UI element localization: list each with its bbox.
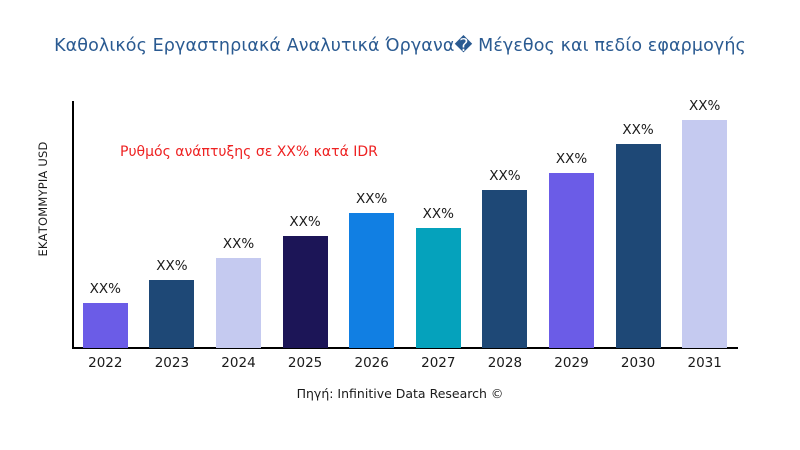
bar-group: XX% (416, 208, 461, 349)
x-tick-label-2025: 2025 (272, 355, 339, 371)
bar-value-label: XX% (689, 100, 720, 114)
bar-2031[interactable] (682, 120, 727, 348)
chart-title: Καθολικός Εργαστηριακά Αναλυτικά Όργανα�… (0, 36, 800, 56)
x-tick-label-2029: 2029 (538, 355, 605, 371)
bar-value-label: XX% (423, 208, 454, 222)
plot-area: XX%XX%XX%XX%XX%XX%XX%XX%XX%XX% (72, 102, 738, 348)
bar-2029[interactable] (549, 173, 594, 348)
bar-chart: Καθολικός Εργαστηριακά Αναλυτικά Όργανα�… (0, 0, 800, 450)
bar-value-label: XX% (489, 170, 520, 184)
bar-group: XX% (682, 100, 727, 349)
bar-group: XX% (616, 124, 661, 349)
bar-group: XX% (283, 216, 328, 349)
x-tick-label-2024: 2024 (205, 355, 272, 371)
bar-group: XX% (482, 170, 527, 349)
x-tick-label-2028: 2028 (472, 355, 539, 371)
bar-2023[interactable] (149, 280, 194, 348)
bar-value-label: XX% (622, 124, 653, 138)
bar-2025[interactable] (283, 236, 328, 348)
x-tick-label-2026: 2026 (338, 355, 405, 371)
source-caption: Πηγή: Infinitive Data Research © (0, 386, 800, 401)
bar-group: XX% (349, 193, 394, 349)
x-tick-label-2031: 2031 (671, 355, 738, 371)
bar-group: XX% (83, 283, 128, 349)
bar-value-label: XX% (90, 283, 121, 297)
x-tick-label-2023: 2023 (139, 355, 206, 371)
growth-rate-annotation: Ρυθμός ανάπτυξης σε XX% κατά IDR (120, 144, 378, 160)
bar-value-label: XX% (289, 216, 320, 230)
bar-2022[interactable] (83, 303, 128, 348)
bar-group: XX% (549, 153, 594, 349)
x-tick-label-2022: 2022 (72, 355, 139, 371)
x-tick-label-2027: 2027 (405, 355, 472, 371)
y-axis-title: ΕΚΑΤΟΜΜΥΡΙΑ USD (36, 79, 50, 319)
bar-value-label: XX% (356, 193, 387, 207)
bar-value-label: XX% (556, 153, 587, 167)
bar-2026[interactable] (349, 213, 394, 348)
bar-2024[interactable] (216, 258, 261, 348)
bar-value-label: XX% (156, 260, 187, 274)
bar-2028[interactable] (482, 190, 527, 348)
x-tick-label-2030: 2030 (605, 355, 672, 371)
bar-value-label: XX% (223, 238, 254, 252)
bar-group: XX% (149, 260, 194, 349)
bar-2027[interactable] (416, 228, 461, 348)
bar-2030[interactable] (616, 144, 661, 348)
bar-group: XX% (216, 238, 261, 349)
